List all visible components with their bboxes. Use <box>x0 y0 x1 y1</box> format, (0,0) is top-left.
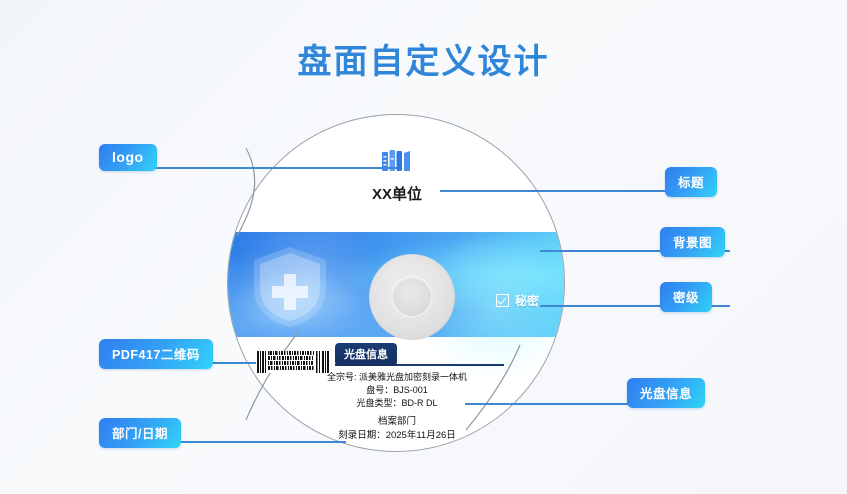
poster-stage: 盘面自定义设计 秘密 <box>0 0 847 494</box>
shield-plus-icon <box>248 244 332 330</box>
page-title: 盘面自定义设计 <box>0 34 847 83</box>
disc-center-hole <box>369 254 455 340</box>
leader-line-title <box>440 190 670 192</box>
pdf417-barcode <box>256 351 330 373</box>
callout-discinfo[interactable]: 光盘信息 <box>627 378 705 408</box>
disc-unit-name: XX单位 <box>228 183 565 204</box>
disc-info-heading: 光盘信息 <box>335 343 397 366</box>
callout-logo[interactable]: logo <box>99 144 157 171</box>
checked-box-icon <box>496 294 509 307</box>
disc-preview[interactable]: 秘密 XX单位 <box>227 114 565 452</box>
callout-department[interactable]: 部门/日期 <box>99 418 181 448</box>
disc-footer: 档案部门 刻录日期：2025年11月26日 <box>228 415 565 443</box>
security-level-label: 秘密 <box>515 292 539 309</box>
disc-department: 档案部门 <box>228 415 565 429</box>
security-level-mark: 秘密 <box>496 292 539 309</box>
callout-background[interactable]: 背景图 <box>660 227 725 257</box>
callout-title[interactable]: 标题 <box>665 167 717 197</box>
disc-info-line-discno: 盘号：BJS-001 <box>228 384 565 397</box>
callout-level[interactable]: 密级 <box>660 282 712 312</box>
callout-pdf417[interactable]: PDF417二维码 <box>99 339 213 369</box>
